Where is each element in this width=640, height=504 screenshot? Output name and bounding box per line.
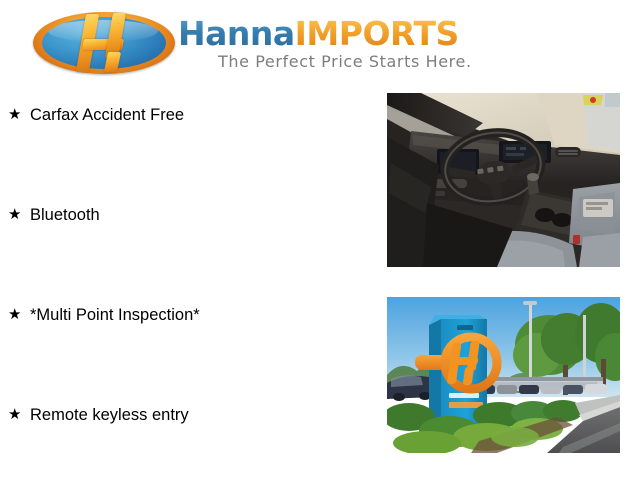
brand-header: HannaIMPORTS The Perfect Price Starts He… bbox=[0, 0, 640, 90]
vehicle-interior-photo[interactable] bbox=[387, 93, 620, 267]
hanna-oval-h-logo-icon bbox=[33, 12, 175, 74]
wordmark-imports: IMPORTS bbox=[295, 14, 459, 53]
feature-label: Carfax Accident Free bbox=[30, 104, 184, 126]
feature-label: Remote keyless entry bbox=[30, 404, 189, 426]
feature-label: Bluetooth bbox=[30, 204, 100, 226]
feature-label: *Multi Point Inspection* bbox=[30, 304, 200, 326]
list-item: ★ Carfax Accident Free bbox=[0, 104, 380, 204]
vehicle-interior-illustration bbox=[387, 93, 620, 267]
vehicle-feature-list: ★ Carfax Accident Free ★ Bluetooth ★ *Mu… bbox=[0, 104, 380, 504]
dealership-sign-photo[interactable] bbox=[387, 297, 620, 453]
logo-h-letter bbox=[73, 14, 137, 72]
list-item: ★ Remote keyless entry bbox=[0, 404, 380, 504]
star-bullet-icon: ★ bbox=[8, 404, 30, 426]
star-bullet-icon: ★ bbox=[8, 304, 30, 326]
dealership-illustration bbox=[387, 297, 620, 453]
list-item: ★ Bluetooth bbox=[0, 204, 380, 304]
brand-wordmark: HannaIMPORTS bbox=[178, 17, 459, 50]
star-bullet-icon: ★ bbox=[8, 104, 30, 126]
wordmark-hanna: Hanna bbox=[178, 14, 295, 53]
list-item: ★ *Multi Point Inspection* bbox=[0, 304, 380, 404]
brand-tagline: The Perfect Price Starts Here. bbox=[218, 52, 472, 71]
star-bullet-icon: ★ bbox=[8, 204, 30, 226]
